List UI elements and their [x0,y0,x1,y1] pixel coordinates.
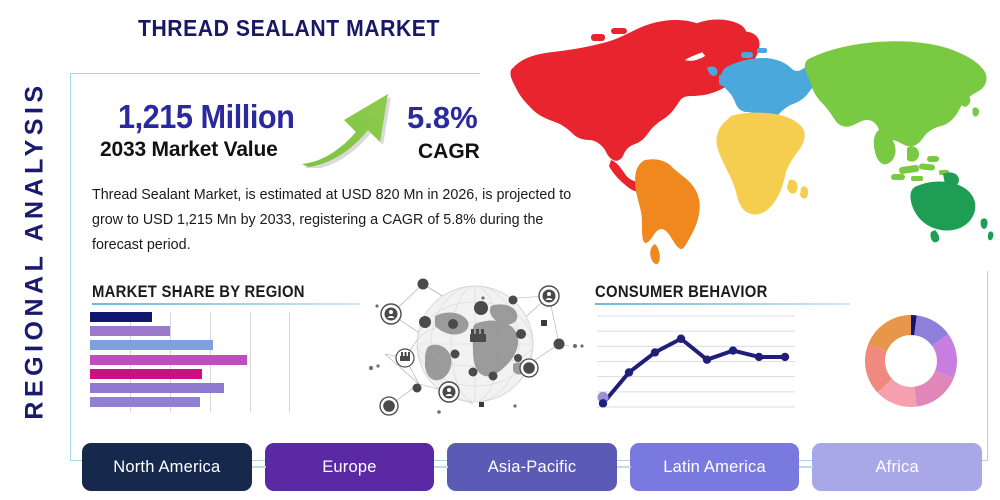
bar-row [90,369,202,379]
region-button-europe[interactable]: Europe [265,443,435,491]
region-button-north-america[interactable]: North America [82,443,252,491]
cagr-figure: 5.8% [407,100,478,136]
region-connector [617,466,631,468]
bar-row [90,355,247,365]
region-button-latin-america[interactable]: Latin America [630,443,800,491]
data-point-2 [625,368,633,376]
region-connector [252,466,266,468]
region-connector [799,466,813,468]
world-map-icon [495,8,995,273]
bar-4 [90,355,247,365]
data-point-3 [651,348,659,356]
bar-row [90,326,170,336]
growth-arrow-icon [300,88,400,168]
market-share-bar-chart [90,312,290,412]
bar-3 [90,340,213,350]
bar-2 [90,326,170,336]
regional-split-donut-chart [857,307,965,415]
bar-row [90,340,213,350]
region-connector [434,466,448,468]
data-point-6 [729,346,737,354]
global-network-icon [363,272,588,417]
region-button-africa[interactable]: Africa [812,443,982,491]
bar-1 [90,312,152,322]
consumer-behavior-rule [595,303,850,305]
donut-segment-7 [868,315,911,351]
page-title: THREAD SEALANT MARKET [138,15,440,42]
region-buttons: North AmericaEuropeAsia-PacificLatin Ame… [82,443,982,491]
bar-6 [90,383,224,393]
data-point-8 [781,353,789,361]
side-label: REGIONAL ANALYSIS [0,0,70,500]
market-value-figure: 1,215 Million [118,98,294,136]
market-value-label: 2033 Market Value [100,138,278,162]
market-share-heading: MARKET SHARE BY REGION [92,283,305,302]
bar-5 [90,369,202,379]
side-label-text: REGIONAL ANALYSIS [21,81,50,419]
data-point-4 [677,335,685,343]
region-button-asia-pacific[interactable]: Asia-Pacific [447,443,617,491]
consumer-behavior-heading: CONSUMER BEHAVIOR [595,283,768,302]
bar-row [90,397,200,407]
cagr-label: CAGR [418,140,480,164]
data-point-7 [755,353,763,361]
bar-row [90,312,152,322]
bar-7 [90,397,200,407]
data-point-1 [599,399,607,407]
consumer-behavior-line-chart [597,310,795,415]
data-point-5 [703,355,711,363]
bar-row [90,383,224,393]
donut-segment-4 [914,371,954,407]
market-share-rule [92,303,360,305]
